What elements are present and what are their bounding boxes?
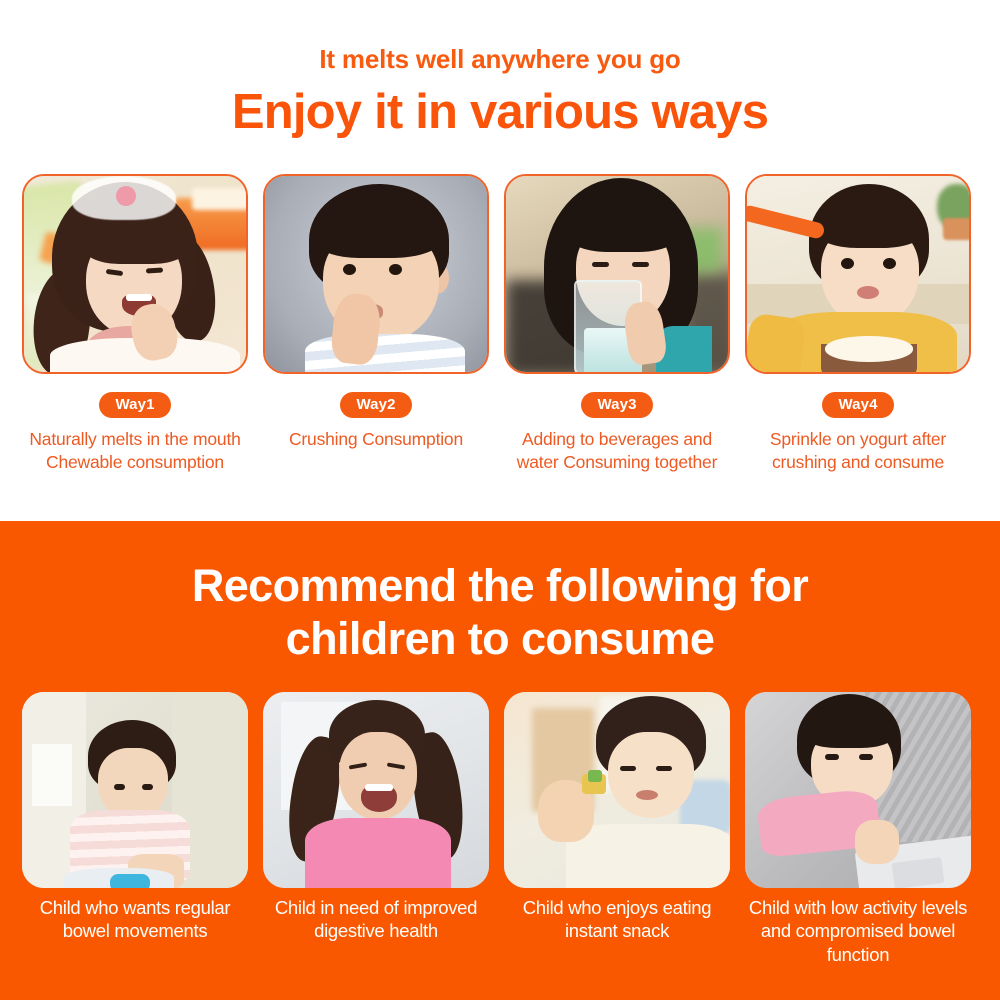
photo-girl-using-laptop-on-sofa <box>745 692 971 888</box>
recommend-title-line1: Recommend the following for <box>0 559 1000 612</box>
way-caption-3: Adding to beverages and water Consuming … <box>504 428 730 473</box>
ways-subtitle: It melts well anywhere you go <box>0 0 1000 74</box>
recommend-photo-card-1 <box>22 692 248 888</box>
photo-girl-with-pigtails-crying <box>263 692 489 888</box>
recommend-section: Recommend the following for children to … <box>0 521 1000 1000</box>
recommend-item-4: Child with low activity levels and compr… <box>745 896 971 966</box>
recommend-photo-card-2 <box>263 692 489 888</box>
recommend-title: Recommend the following for children to … <box>0 521 1000 665</box>
way-item-1: Way1 Naturally melts in the mouth Chewab… <box>22 392 248 473</box>
photo-girl-drinking-from-glass <box>506 176 728 372</box>
recommend-item-3: Child who enjoys eating instant snack <box>504 896 730 966</box>
photo-toddler-boy-striped-tank-eating <box>265 176 487 372</box>
way-badge-4: Way4 <box>822 392 893 418</box>
recommend-caption-row: Child who wants regular bowel movements … <box>22 896 978 966</box>
recommend-caption-4: Child with low activity levels and compr… <box>745 896 971 966</box>
recommend-caption-1: Child who wants regular bowel movements <box>22 896 248 943</box>
way-badge-1: Way1 <box>99 392 170 418</box>
recommend-title-line2: children to consume <box>0 612 1000 665</box>
ways-title: Enjoy it in various ways <box>0 85 1000 140</box>
photo-toddler-sitting-on-potty <box>22 692 248 888</box>
way-caption-4: Sprinkle on yogurt after crushing and co… <box>745 428 971 473</box>
way-badge-2: Way2 <box>340 392 411 418</box>
ways-caption-row: Way1 Naturally melts in the mouth Chewab… <box>22 392 978 473</box>
photo-boy-eating-snack <box>504 692 730 888</box>
recommend-item-1: Child who wants regular bowel movements <box>22 896 248 966</box>
way-photo-card-1 <box>22 174 248 374</box>
way-badge-3: Way3 <box>581 392 652 418</box>
recommend-item-2: Child in need of improved digestive heal… <box>263 896 489 966</box>
recommend-photo-row <box>22 692 978 888</box>
recommend-caption-3: Child who enjoys eating instant snack <box>504 896 730 943</box>
recommend-photo-card-3 <box>504 692 730 888</box>
recommend-caption-2: Child in need of improved digestive heal… <box>263 896 489 943</box>
way-caption-1: Naturally melts in the mouth Chewable co… <box>22 428 248 473</box>
photo-child-yellow-sweater-with-yogurt-bowl <box>747 176 969 372</box>
way-photo-card-2 <box>263 174 489 374</box>
way-item-3: Way3 Adding to beverages and water Consu… <box>504 392 730 473</box>
ways-photo-row <box>22 174 978 374</box>
way-item-2: Way2 Crushing Consumption <box>263 392 489 473</box>
way-caption-2: Crushing Consumption <box>263 428 489 451</box>
ways-section: It melts well anywhere you go Enjoy it i… <box>0 0 1000 521</box>
recommend-photo-card-4 <box>745 692 971 888</box>
photo-girl-with-hair-bow-eating <box>24 176 246 372</box>
way-photo-card-3 <box>504 174 730 374</box>
way-photo-card-4 <box>745 174 971 374</box>
way-item-4: Way4 Sprinkle on yogurt after crushing a… <box>745 392 971 473</box>
